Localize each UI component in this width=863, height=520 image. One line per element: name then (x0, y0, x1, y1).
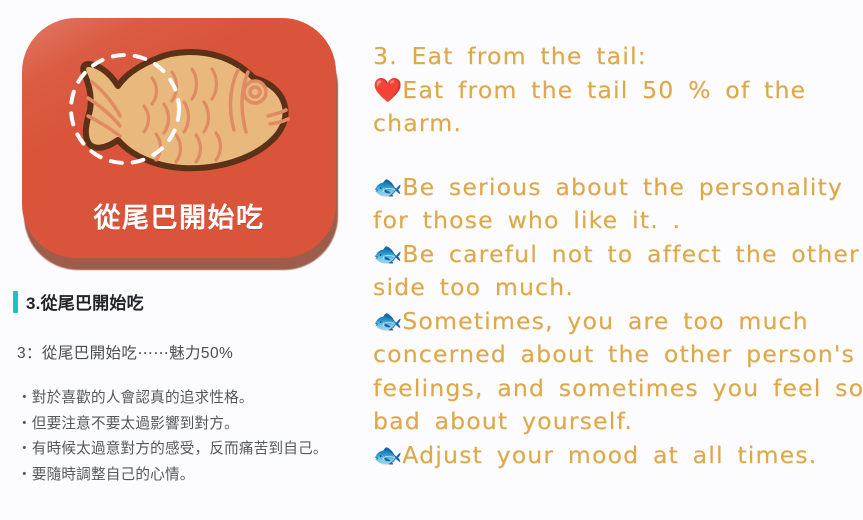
line-text: for those who like it. . (373, 206, 681, 234)
list-item: ・對於喜歡的人會認真的追求性格。 (17, 386, 357, 412)
heading-accent-bar (13, 291, 18, 313)
list-item: ・有時候太過意對方的感受，反而痛苦到自己。 (17, 437, 357, 463)
heading-label: 3.從尾巴開始吃 (26, 289, 144, 314)
bullet-list: ・對於喜歡的人會認真的追求性格。 ・但要注意不要太過影響到對方。 ・有時候太過意… (17, 386, 357, 488)
english-line: 3. Eat from the tail: (373, 40, 861, 74)
line-text: Adjust your mood at all times. (402, 441, 817, 469)
list-item: ・但要注意不要太過影響到對方。 (17, 412, 357, 438)
card-face: 從尾巴開始吃 (22, 18, 336, 258)
english-line: concerned about the other person's (373, 338, 861, 372)
line-text: side too much. (373, 273, 574, 301)
heart-icon: ❤️ (373, 76, 402, 104)
paragraph-gap (373, 141, 861, 171)
line-text: concerned about the other person's (373, 340, 855, 368)
english-line: 🐟Be serious about the personality (373, 171, 861, 205)
fish-icon: 🐟 (373, 173, 402, 201)
line-text: 3. Eat from the tail: (373, 42, 647, 70)
fish-icon: 🐟 (373, 441, 402, 469)
lead-text: 3：從尾巴開始吃⋯⋯魅力50% (17, 341, 233, 363)
line-text: feelings, and sometimes you feel so (373, 374, 863, 402)
line-text: bad about yourself. (373, 407, 633, 435)
english-line: feelings, and sometimes you feel so (373, 372, 861, 406)
english-line: ❤️Eat from the tail 50 % of the (373, 74, 861, 108)
card-title: 從尾巴開始吃 (22, 196, 336, 235)
right-panel: 3. Eat from the tail: ❤️Eat from the tai… (363, 0, 863, 520)
section-heading: 3.從尾巴開始吃 (13, 289, 144, 314)
list-item: ・要隨時調整自己的心情。 (17, 463, 357, 489)
english-line: 🐟Sometimes, you are too much (373, 305, 861, 339)
line-text: Sometimes, you are too much (402, 307, 808, 335)
english-line: 🐟Be careful not to affect the other (373, 238, 861, 272)
english-translation-block: 3. Eat from the tail: ❤️Eat from the tai… (373, 40, 861, 472)
line-text: charm. (373, 109, 462, 137)
english-line: for those who like it. . (373, 204, 861, 238)
english-line: bad about yourself. (373, 405, 861, 439)
slide-root: 從尾巴開始吃 3.從尾巴開始吃 3：從尾巴開始吃⋯⋯魅力50% ・對於喜歡的人會… (0, 0, 863, 520)
taiyaki-card[interactable]: 從尾巴開始吃 (22, 18, 340, 270)
english-line: charm. (373, 107, 861, 141)
english-line: side too much. (373, 271, 861, 305)
line-text: Eat from the tail 50 % of the (402, 76, 806, 104)
english-line: 🐟Adjust your mood at all times. (373, 439, 861, 473)
line-text: Be serious about the personality (402, 173, 843, 201)
fish-icon: 🐟 (373, 240, 402, 268)
taiyaki-fish-illustration (22, 24, 336, 192)
line-text: Be careful not to affect the other (402, 240, 860, 268)
fish-icon: 🐟 (373, 307, 402, 335)
left-panel: 從尾巴開始吃 3.從尾巴開始吃 3：從尾巴開始吃⋯⋯魅力50% ・對於喜歡的人會… (0, 0, 363, 520)
